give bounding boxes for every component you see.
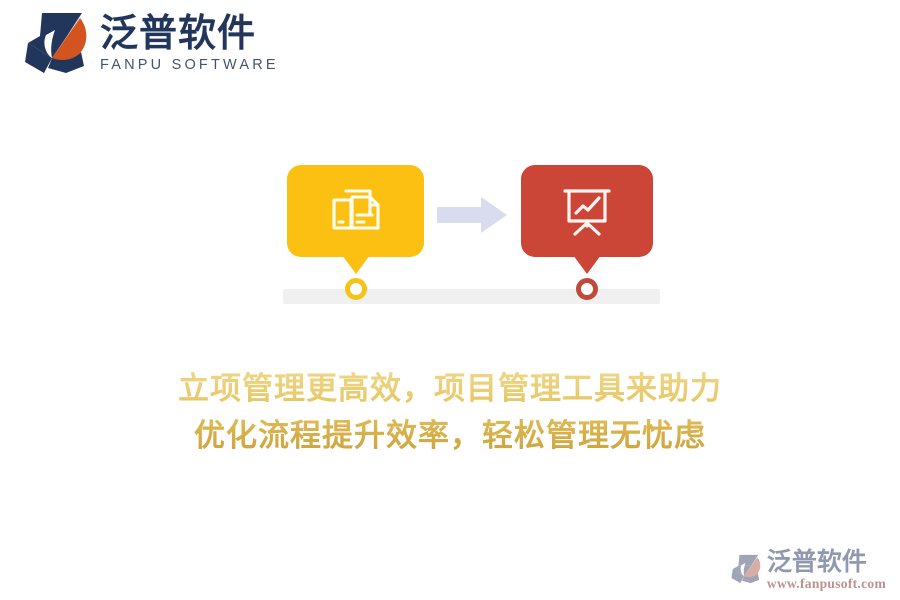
brand-name-cn: 泛普软件 bbox=[100, 14, 279, 52]
documents-stack-icon bbox=[326, 181, 386, 241]
step-2-timeline-dot[interactable] bbox=[576, 278, 598, 300]
fanpu-hexagon-swoosh-logo-icon bbox=[22, 10, 90, 76]
step-1-card[interactable] bbox=[287, 165, 424, 257]
brand-name-en: FANPU SOFTWARE bbox=[100, 58, 279, 73]
process-step-1[interactable] bbox=[287, 165, 424, 257]
step-2-card[interactable] bbox=[521, 165, 653, 257]
brand-logo: 泛普软件 FANPU SOFTWARE bbox=[22, 10, 279, 76]
presentation-chart-board-icon bbox=[558, 182, 616, 240]
watermark-url: www.fanpusoft.com bbox=[767, 577, 886, 591]
right-arrow-icon bbox=[437, 197, 507, 233]
process-step-2[interactable] bbox=[521, 165, 653, 257]
step-1-timeline-dot[interactable] bbox=[345, 278, 367, 300]
headline-line-2: 优化流程提升效率，轻松管理无忧虑 bbox=[0, 413, 900, 460]
step-1-card-tail bbox=[342, 255, 370, 274]
brand-wordmark: 泛普软件 FANPU SOFTWARE bbox=[100, 14, 279, 73]
watermark-wordmark: 泛普软件 www.fanpusoft.com bbox=[767, 549, 886, 591]
headline-line-1: 立项管理更高效，项目管理工具来助力 bbox=[0, 366, 900, 413]
headline: 立项管理更高效，项目管理工具来助力 优化流程提升效率，轻松管理无忧虑 bbox=[0, 366, 900, 460]
step-2-card-tail bbox=[573, 255, 601, 274]
watermark: 泛普软件 www.fanpusoft.com bbox=[730, 549, 886, 591]
timeline-track bbox=[283, 289, 660, 304]
fanpu-watermark-logo-icon bbox=[730, 553, 762, 585]
process-timeline-graphic bbox=[0, 165, 900, 325]
watermark-name-cn: 泛普软件 bbox=[767, 549, 886, 574]
